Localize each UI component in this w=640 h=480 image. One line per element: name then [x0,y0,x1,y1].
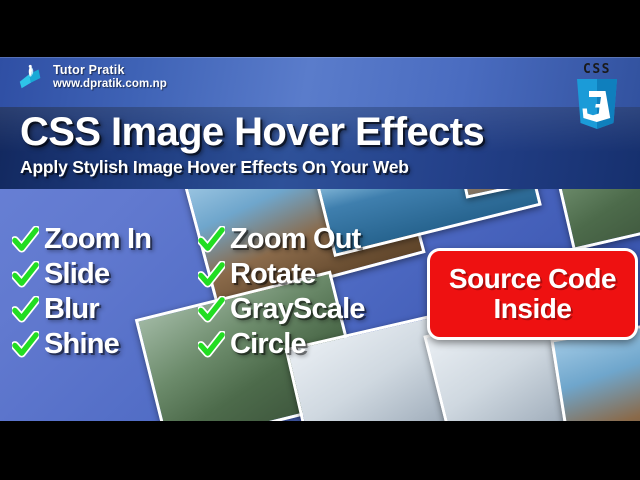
feature-label: Blur [44,293,99,326]
page-subtitle: Apply Stylish Image Hover Effects On You… [20,157,409,178]
letterbox-bottom [0,421,640,480]
title-band: CSS Image Hover Effects Apply Stylish Im… [0,107,640,189]
brand-name: Tutor Pratik [53,64,167,77]
feature-item-zoom-in: Zoom In [12,222,151,257]
thumbnail-canvas: Tutor Pratik www.dpratik.com.np CSS Imag… [0,0,640,480]
brand-url: www.dpratik.com.np [53,78,167,90]
green-check-icon [198,261,225,288]
brand-text: Tutor Pratik www.dpratik.com.np [53,64,167,89]
green-check-icon [12,261,39,288]
green-check-icon [198,226,225,253]
green-check-icon [198,331,225,358]
css3-logo: CSS [568,63,626,133]
feature-item-circle: Circle [198,327,365,362]
css3-wordmark: CSS [583,63,611,76]
css3-shield-icon [574,78,620,132]
feature-label: GrayScale [230,293,365,326]
feature-label: Zoom Out [230,223,361,256]
brand-logo: Tutor Pratik www.dpratik.com.np [16,62,167,92]
feature-item-blur: Blur [12,292,151,327]
feature-list-left: Zoom In Slide Blur [12,222,151,362]
feature-item-slide: Slide [12,257,151,292]
feature-item-grayscale: GrayScale [198,292,365,327]
green-check-icon [12,331,39,358]
feature-item-zoom-out: Zoom Out [198,222,365,257]
feature-list-right: Zoom Out Rotate GrayScal [198,222,365,362]
source-code-badge: Source Code Inside [427,248,638,340]
page-title: CSS Image Hover Effects [20,110,484,155]
badge-line-2: Inside [494,294,572,324]
badge-line-1: Source Code [449,264,616,294]
feature-label: Slide [44,258,109,291]
green-check-icon [198,296,225,323]
letterbox-top [0,0,640,57]
feature-item-shine: Shine [12,327,151,362]
green-check-icon [12,296,39,323]
brand-header-band: Tutor Pratik www.dpratik.com.np [0,57,640,107]
feature-label: Circle [230,328,306,361]
bird-book-logo-icon [16,62,46,92]
feature-label: Rotate [230,258,315,291]
content-area: Tutor Pratik www.dpratik.com.np CSS Imag… [0,57,640,421]
feature-label: Zoom In [44,223,151,256]
green-check-icon [12,226,39,253]
feature-item-rotate: Rotate [198,257,365,292]
feature-label: Shine [44,328,119,361]
